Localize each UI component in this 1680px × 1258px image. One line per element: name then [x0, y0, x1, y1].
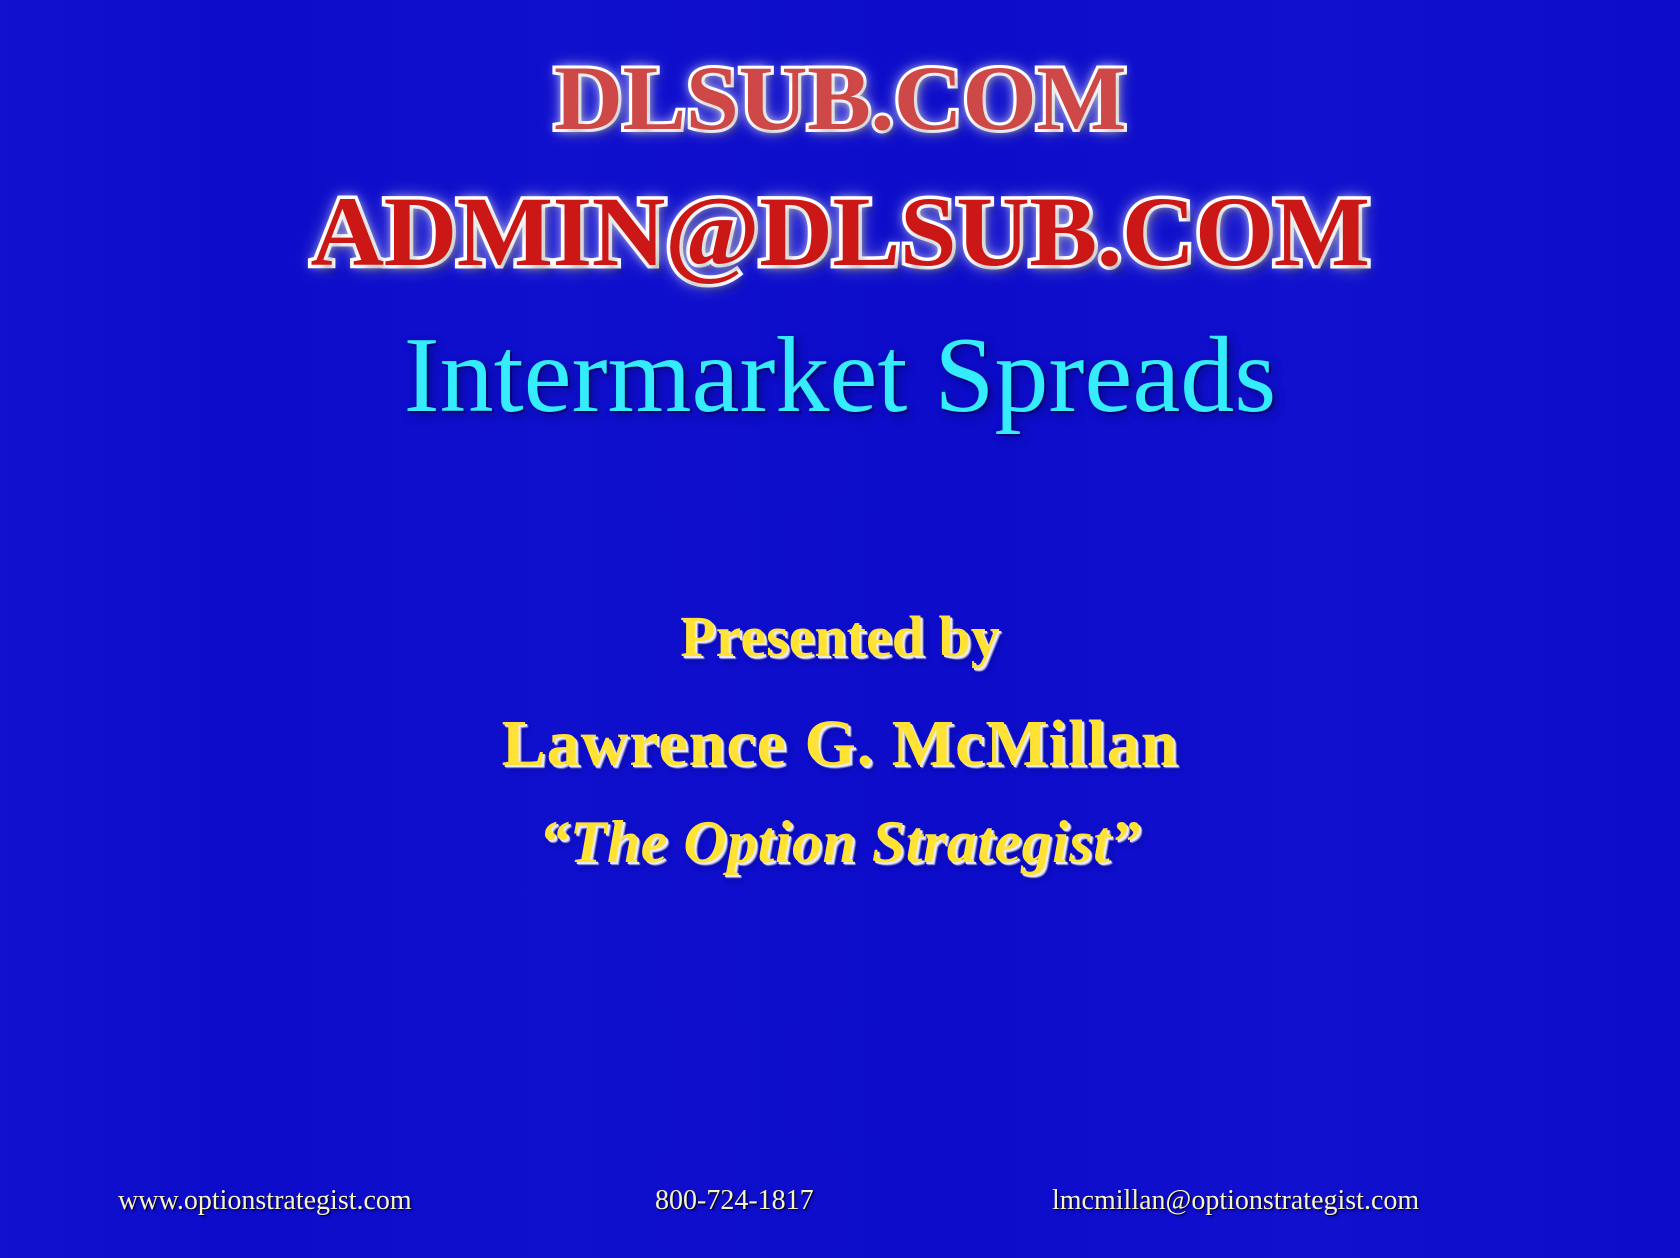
- watermark-email: ADMIN@DLSUB.COM: [0, 182, 1680, 282]
- presented-by-label: Presented by: [0, 603, 1680, 670]
- footer-phone: 800-724-1817: [655, 1185, 814, 1217]
- footer-website: www.optionstrategist.com: [118, 1185, 412, 1217]
- slide-title: Intermarket Spreads: [0, 318, 1680, 435]
- watermark-site: DLSUB.COM: [0, 52, 1680, 144]
- slide-footer: www.optionstrategist.com 800-724-1817 lm…: [0, 1178, 1680, 1224]
- footer-email: lmcmillan@optionstrategist.com: [1052, 1185, 1419, 1217]
- presenter-tagline: “The Option Strategist”: [0, 808, 1680, 877]
- presentation-slide: DLSUB.COM ADMIN@DLSUB.COM Intermarket Sp…: [0, 0, 1680, 1258]
- presenter-name: Lawrence G. McMillan: [0, 706, 1680, 782]
